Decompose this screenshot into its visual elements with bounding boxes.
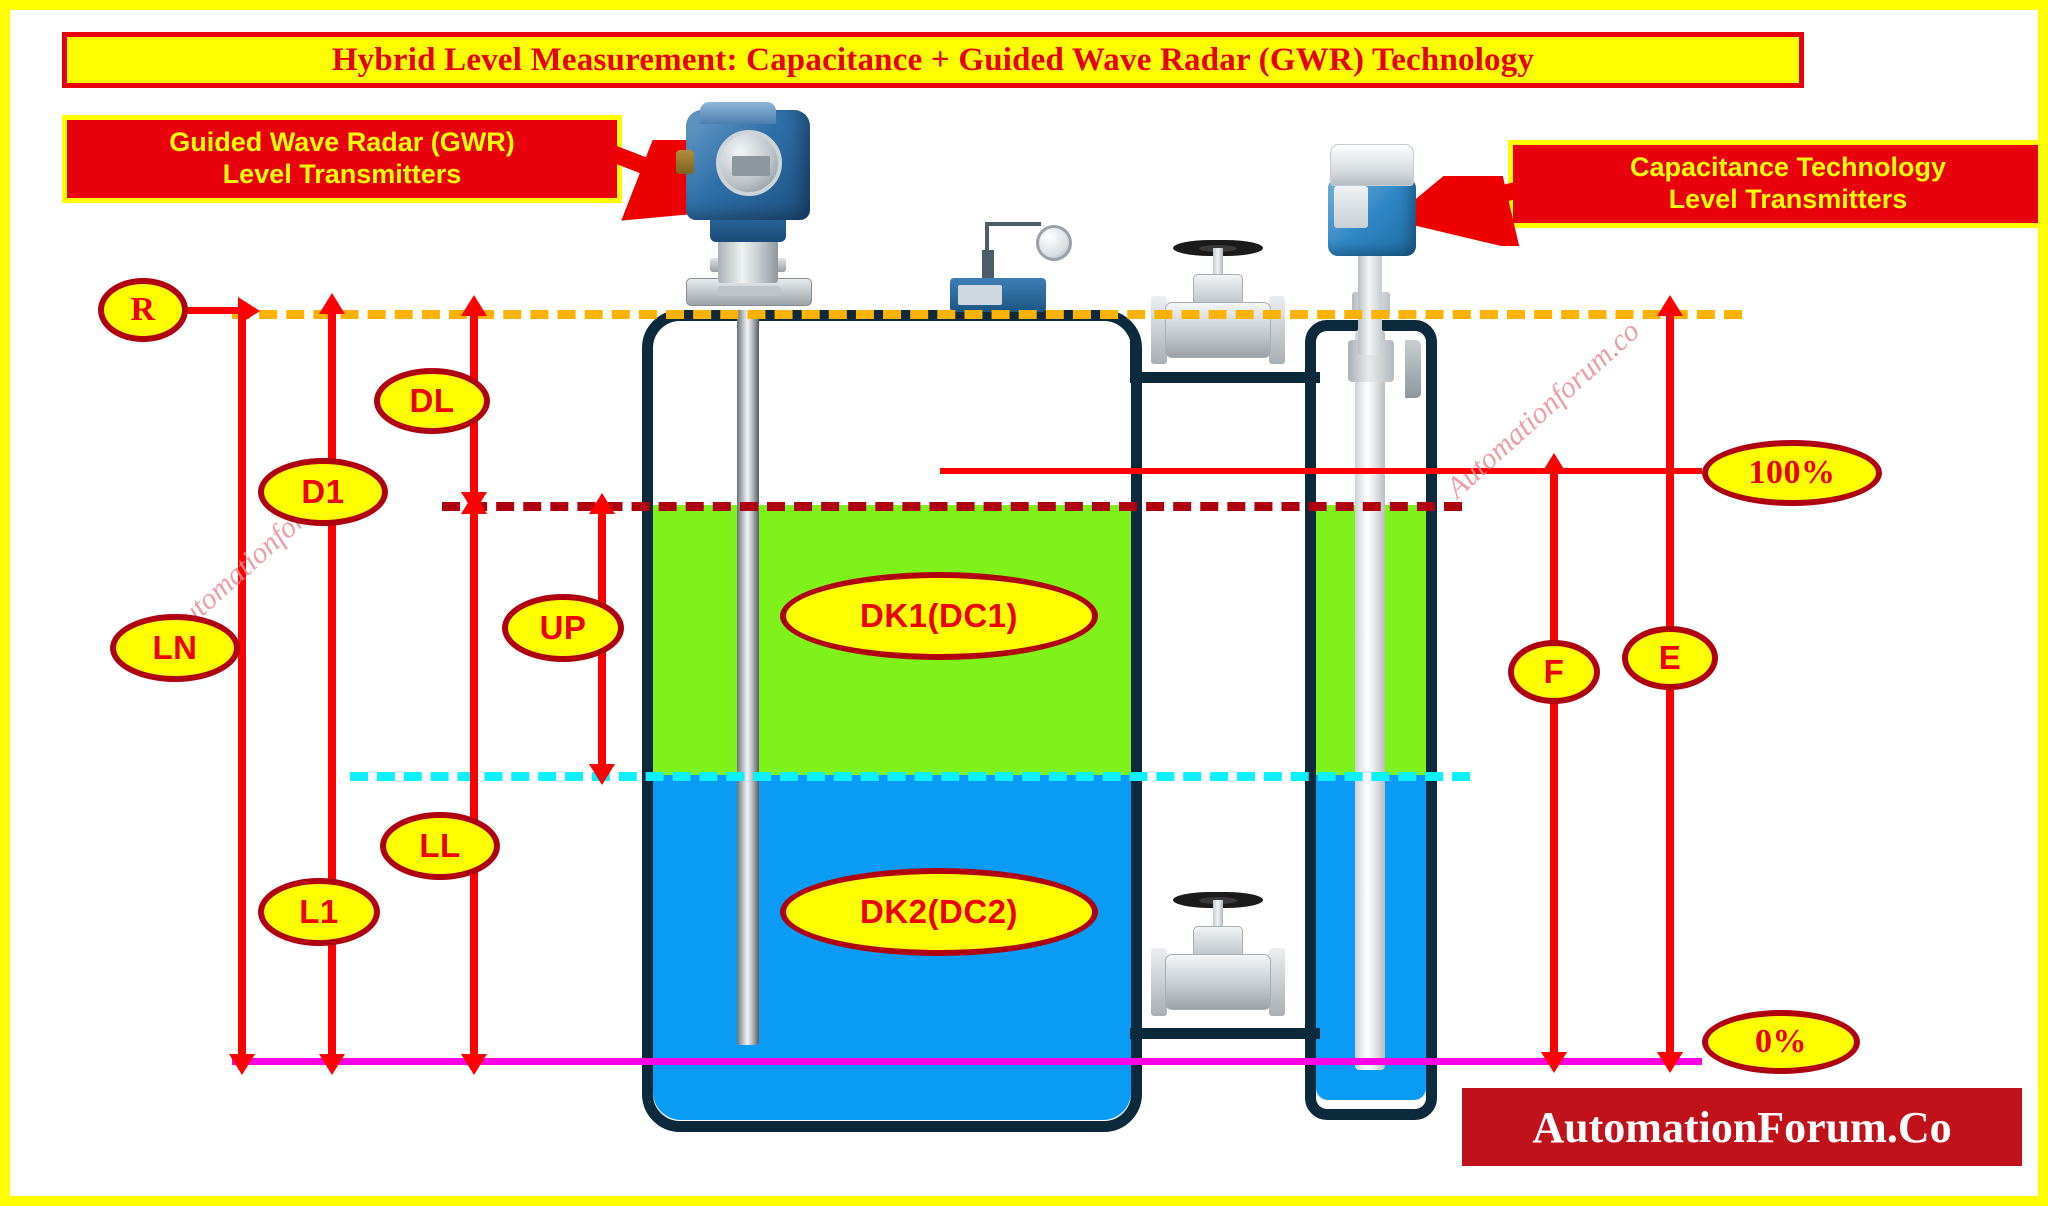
dim-ll-arrow-up — [461, 493, 487, 514]
dim-dl-arrow-up — [461, 295, 487, 316]
tag-r: R — [98, 278, 188, 342]
tag-dl: DL — [374, 368, 490, 434]
callout-capacitance-transmitters: Capacitance Technology Level Transmitter… — [1508, 140, 2048, 228]
capacitance-probe-rod — [1355, 330, 1385, 1070]
tag-ln-label: LN — [153, 629, 198, 667]
valve-flange-right — [1269, 948, 1285, 1016]
pressure-gauge-icon — [1036, 225, 1072, 261]
dim-e-arrow-up — [1657, 295, 1683, 316]
reference-line-100-percent — [940, 468, 1702, 474]
gwr-probe-rod — [737, 310, 759, 1045]
pipe-bottom-connection — [1130, 1028, 1320, 1039]
dim-ln-line — [238, 312, 246, 1056]
reference-line-top-orange — [232, 310, 1742, 319]
dim-f-arrow-down — [1541, 1052, 1567, 1073]
page-title-text: Hybrid Level Measurement: Capacitance + … — [332, 42, 1534, 79]
tag-f: F — [1508, 640, 1600, 704]
dim-ln-arrow-down — [229, 1054, 255, 1075]
tag-dk2: DK2(DC2) — [780, 868, 1098, 956]
tag-ll: LL — [380, 812, 500, 880]
dim-d1-arrow-down — [319, 1054, 345, 1075]
gwr-neck — [718, 235, 778, 283]
callout-gwr-transmitters: Guided Wave Radar (GWR) Level Transmitte… — [62, 115, 622, 203]
tank-top-instrument — [950, 278, 1046, 312]
capacitance-nameplate — [1334, 186, 1368, 228]
tag-dk1-label: DK1(DC1) — [860, 597, 1018, 635]
tag-l1: L1 — [258, 878, 380, 946]
tag-dk1: DK1(DC1) — [780, 572, 1098, 660]
callout-cap-line1: Capacitance Technology — [1630, 152, 1946, 184]
dim-e-arrow-down — [1657, 1052, 1683, 1073]
tag-100-percent-label: 100% — [1749, 454, 1836, 492]
gwr-display-window — [716, 130, 782, 196]
site-logo-text: AutomationForum.Co — [1532, 1102, 1951, 1153]
dim-f-arrow-up — [1541, 453, 1567, 474]
pipe-top-connection — [1130, 372, 1320, 383]
tag-l1-label: L1 — [299, 893, 339, 931]
callout-gwr-line2: Level Transmitters — [223, 159, 462, 191]
valve-body — [1165, 954, 1271, 1010]
dim-f-line — [1550, 472, 1558, 1054]
site-logo: AutomationForum.Co — [1462, 1088, 2022, 1166]
tag-0-percent-label: 0% — [1755, 1023, 1807, 1061]
tag-f-label: F — [1544, 653, 1565, 691]
gwr-conduit-boss — [676, 150, 694, 174]
watermark-right: Automationforum.co — [1440, 314, 1647, 505]
dim-ll-line — [470, 512, 478, 1056]
page-title: Hybrid Level Measurement: Capacitance + … — [62, 32, 1804, 88]
callout-cap-line2: Level Transmitters — [1669, 184, 1908, 216]
tag-up: UP — [502, 594, 624, 662]
tag-dl-label: DL — [410, 382, 455, 420]
capacitance-stem — [1358, 250, 1382, 355]
gwr-housing-cap — [700, 102, 776, 124]
dim-d1-arrow-up — [319, 293, 345, 314]
callout-cap-pointer-arrow — [1408, 176, 1528, 246]
tag-e-label: E — [1659, 639, 1682, 677]
tag-ll-label: LL — [419, 827, 460, 865]
tag-r-label: R — [130, 291, 155, 329]
reference-line-0-percent — [232, 1058, 1702, 1065]
tag-d1: D1 — [258, 458, 388, 526]
tag-dk2-label: DK2(DC2) — [860, 893, 1018, 931]
valve-flange-right — [1269, 296, 1285, 364]
dim-ll-arrow-down — [461, 1054, 487, 1075]
tag-ln: LN — [110, 614, 240, 682]
dim-up-arrow-down — [589, 764, 615, 785]
capacitance-mounting-bracket — [1405, 340, 1421, 398]
tag-0-percent: 0% — [1702, 1010, 1860, 1074]
gauge-arm-horizontal — [985, 222, 1041, 226]
dim-up-arrow-up — [589, 493, 615, 514]
capacitance-housing-lid — [1330, 144, 1414, 186]
tag-d1-label: D1 — [301, 473, 344, 511]
reference-line-interface — [350, 772, 1470, 781]
tag-100-percent: 100% — [1702, 440, 1882, 506]
callout-gwr-line1: Guided Wave Radar (GWR) — [169, 127, 515, 159]
tag-up-label: UP — [540, 609, 587, 647]
tag-e: E — [1622, 626, 1718, 690]
diagram-canvas: Hybrid Level Measurement: Capacitance + … — [0, 0, 2048, 1206]
process-tank — [642, 310, 1142, 1132]
